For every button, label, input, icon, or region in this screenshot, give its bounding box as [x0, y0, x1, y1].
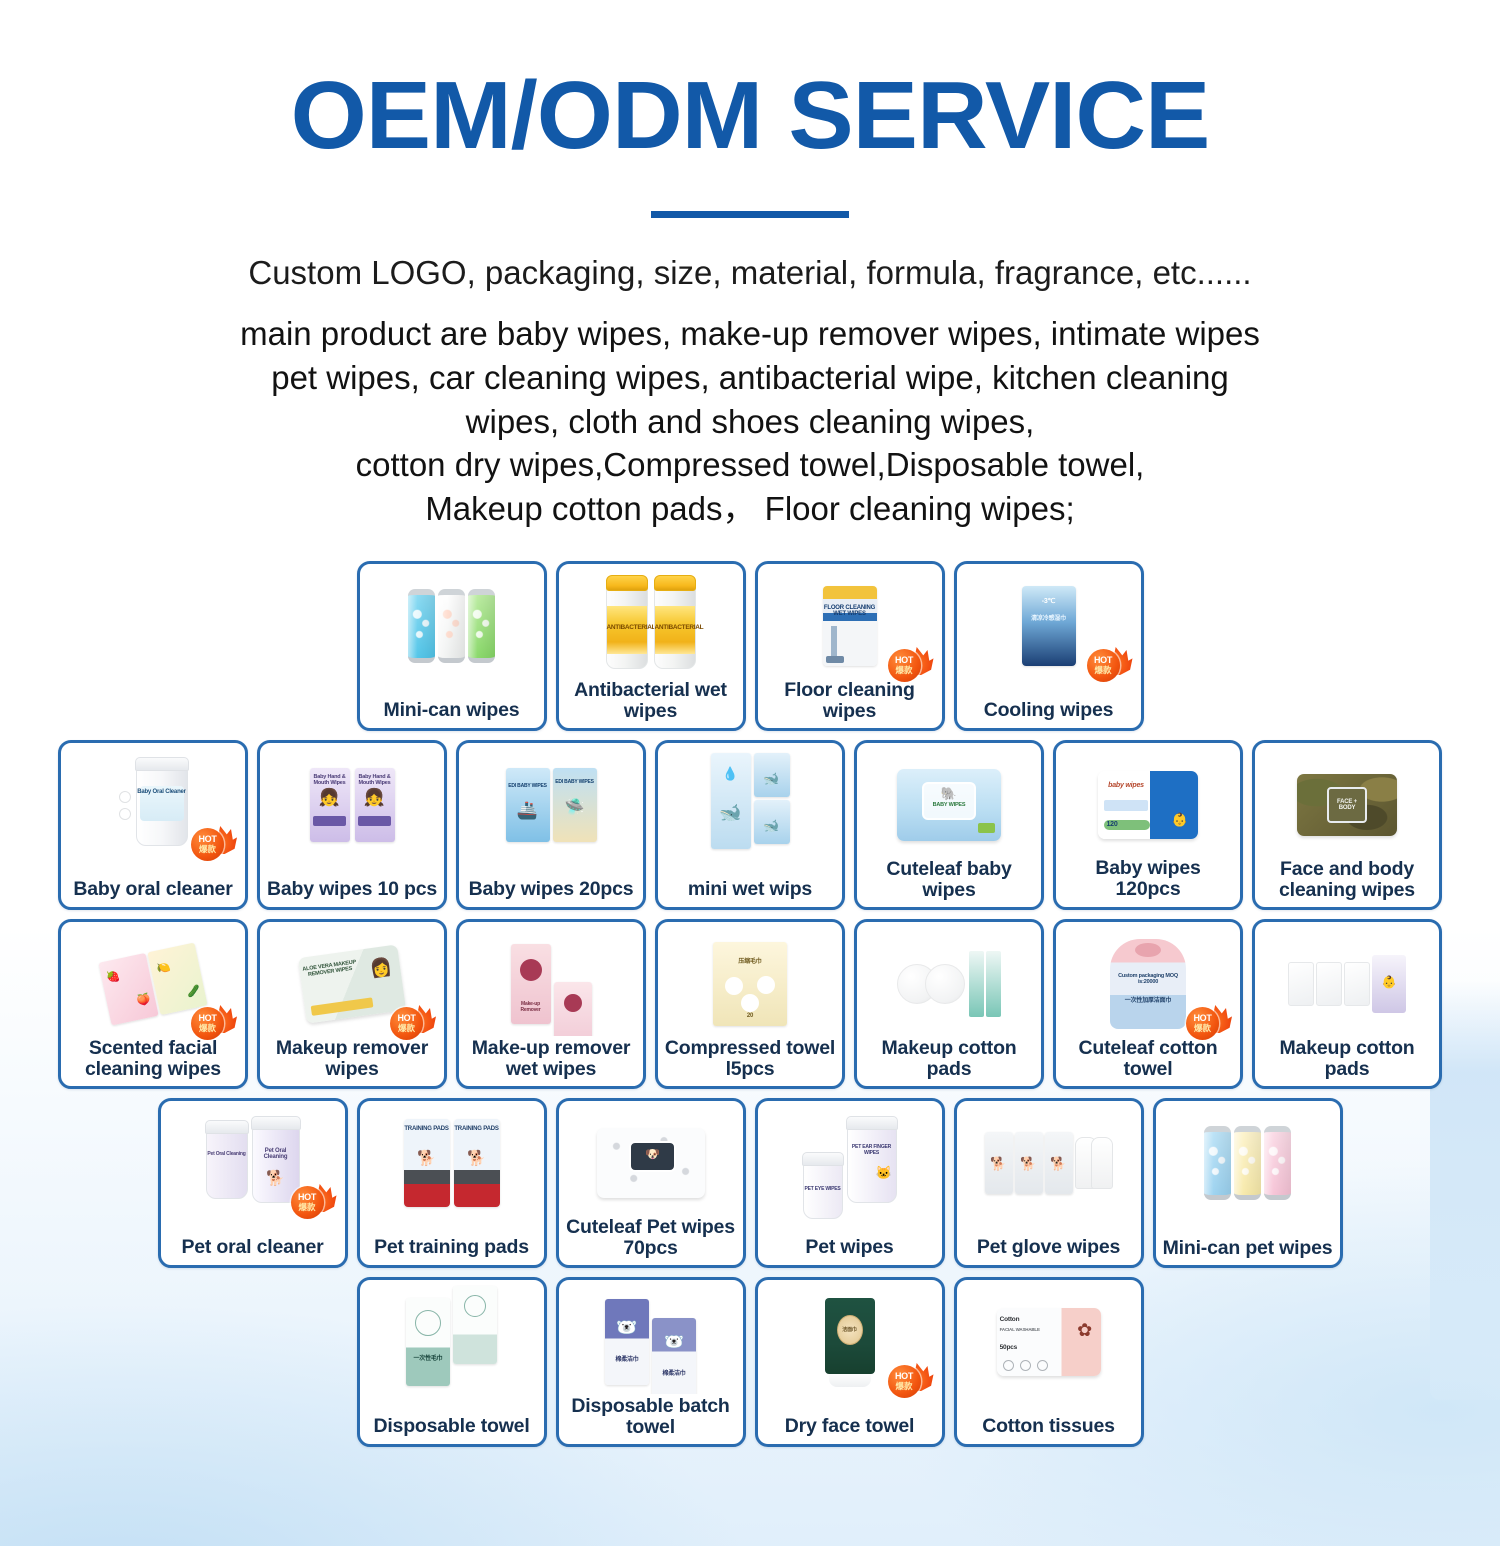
page-title: OEM/ODM SERVICE — [0, 66, 1500, 167]
product-card-label: Make-up remover wet wipes — [464, 1036, 638, 1079]
product-image: CottonFACIAL WASHABLE50pcs✿ — [963, 1286, 1135, 1398]
product-image: TRAINING PADS🐕TRAINING PADS🐕 — [366, 1107, 538, 1219]
hot-badge-text-cn: 爆款 — [199, 845, 216, 854]
product-card[interactable]: -3℃清凉冷感湿巾HOT爆款Cooling wipes — [954, 561, 1144, 731]
oem-odm-service-page: OEM/ODM SERVICE Custom LOGO, packaging, … — [0, 0, 1500, 1546]
product-image: 👶 — [1261, 928, 1433, 1040]
product-image: 🐻‍❄️棉柔洁巾🐻‍❄️棉柔洁巾 — [565, 1286, 737, 1398]
product-card-label: Cuteleaf baby wipes — [862, 857, 1036, 900]
product-card[interactable]: EDI BABY WIPES🚢EDI BABY WIPES🛸Baby wipes… — [456, 740, 646, 910]
product-card-label: Baby wipes 10 pcs — [265, 877, 439, 900]
page-description: main product are baby wipes, make-up rem… — [0, 312, 1500, 531]
product-card-label: Cuteleaf Pet wipes 70pcs — [564, 1215, 738, 1258]
product-card[interactable]: Mini-can pet wipes — [1153, 1098, 1343, 1268]
hot-badge-icon: HOT爆款 — [888, 1360, 934, 1400]
description-line: cotton dry wipes,Compressed towel,Dispos… — [0, 443, 1500, 487]
product-card-label: Antibacterial wet wipes — [564, 678, 738, 721]
hot-badge-text-cn: 爆款 — [398, 1024, 415, 1033]
product-card-label: Floor cleaning wipes — [763, 678, 937, 721]
hot-badge-text-cn: 爆款 — [1194, 1024, 1211, 1033]
product-card-label: Pet training pads — [365, 1235, 539, 1258]
product-card-label: Makeup cotton pads — [1260, 1036, 1434, 1079]
product-card-label: mini wet wips — [663, 877, 837, 900]
product-card-label: Baby wipes 120pcs — [1061, 856, 1235, 900]
product-card[interactable]: Make-up RemoverMake-up remover wet wipes — [456, 919, 646, 1089]
hot-badge-text: HOT — [1094, 656, 1112, 665]
product-image: ANTIBACTERIALANTIBACTERIAL — [565, 570, 737, 682]
product-card[interactable]: 🍓🍑🍋🥒HOT爆款Scented facial cleaning wipes — [58, 919, 248, 1089]
product-card-label: Disposable batch towel — [564, 1394, 738, 1437]
hot-badge-text: HOT — [1193, 1014, 1211, 1023]
product-card[interactable]: CottonFACIAL WASHABLE50pcs✿Cotton tissue… — [954, 1277, 1144, 1447]
product-card[interactable]: FLOOR CLEANING WET WIPESHOT爆款Floor clean… — [755, 561, 945, 731]
product-card[interactable]: PET EYE WIPESPET EAR FINGER WIPES🐱Pet wi… — [755, 1098, 945, 1268]
product-card-label: Cooling wipes — [962, 698, 1136, 721]
product-row: Pet Oral CleaningPet Oral Cleaning🐕HOT爆款… — [0, 1098, 1500, 1268]
product-card-label: Mini-can wipes — [365, 698, 539, 721]
product-card-label: Makeup cotton pads — [862, 1036, 1036, 1079]
product-card[interactable]: Baby Hand & Mouth Wipes👧Baby Hand & Mout… — [257, 740, 447, 910]
product-card-label: Pet wipes — [763, 1235, 937, 1258]
product-card[interactable]: baby wipes120👶Baby wipes 120pcs — [1053, 740, 1243, 910]
product-image — [366, 570, 538, 682]
product-image: Baby Hand & Mouth Wipes👧Baby Hand & Mout… — [266, 749, 438, 861]
product-card[interactable]: BABY WIPES🐘Cuteleaf baby wipes — [854, 740, 1044, 910]
hot-badge-text-cn: 爆款 — [298, 1203, 315, 1212]
hot-badge-text-cn: 爆款 — [199, 1024, 216, 1033]
hot-badge-text: HOT — [895, 656, 913, 665]
product-card[interactable]: Mini-can wipes — [357, 561, 547, 731]
product-card[interactable]: 🐻‍❄️棉柔洁巾🐻‍❄️棉柔洁巾Disposable batch towel — [556, 1277, 746, 1447]
hot-badge-icon: HOT爆款 — [191, 1002, 237, 1042]
product-card-label: Disposable towel — [365, 1414, 539, 1437]
product-card[interactable]: 👶Makeup cotton pads — [1252, 919, 1442, 1089]
product-card[interactable]: Makeup cotton pads — [854, 919, 1044, 1089]
product-grid: Mini-can wipesANTIBACTERIALANTIBACTERIAL… — [0, 561, 1500, 1447]
product-image: 🐕🐕🐕 — [963, 1107, 1135, 1219]
product-card[interactable]: 一次性毛巾Disposable towel — [357, 1277, 547, 1447]
product-card[interactable]: 🐶Cuteleaf Pet wipes 70pcs — [556, 1098, 746, 1268]
product-card[interactable]: Pet Oral CleaningPet Oral Cleaning🐕HOT爆款… — [158, 1098, 348, 1268]
product-card[interactable]: ALOE VERA MAKEUP REMOVER WIPES👩HOT爆款Make… — [257, 919, 447, 1089]
product-card-label: Dry face towel — [763, 1414, 937, 1437]
title-underline-rule — [651, 211, 849, 218]
product-row: 🍓🍑🍋🥒HOT爆款Scented facial cleaning wipesAL… — [0, 919, 1500, 1089]
product-card[interactable]: ANTIBACTERIALANTIBACTERIALAntibacterial … — [556, 561, 746, 731]
product-image: PET EYE WIPESPET EAR FINGER WIPES🐱 — [764, 1107, 936, 1219]
product-image: 压缩毛巾20 — [664, 928, 836, 1040]
product-row: 一次性毛巾Disposable towel🐻‍❄️棉柔洁巾🐻‍❄️棉柔洁巾Dis… — [0, 1277, 1500, 1447]
product-image: BABY WIPES🐘 — [863, 749, 1035, 861]
product-image: 💧🐋🐋🐋 — [664, 749, 836, 861]
product-image — [1162, 1107, 1334, 1219]
hot-badge-text: HOT — [198, 835, 216, 844]
product-card-label: Compressed towel l5pcs — [663, 1036, 837, 1079]
hot-badge-icon: HOT爆款 — [291, 1181, 337, 1221]
hot-badge-text: HOT — [298, 1193, 316, 1202]
product-row: Mini-can wipesANTIBACTERIALANTIBACTERIAL… — [0, 561, 1500, 731]
product-card[interactable]: Custom packaging MOQ is:20000一次性加厚洁面巾HOT… — [1053, 919, 1243, 1089]
description-line: pet wipes, car cleaning wipes, antibacte… — [0, 356, 1500, 400]
hot-badge-text: HOT — [198, 1014, 216, 1023]
hot-badge-text-cn: 爆款 — [895, 1382, 912, 1391]
description-line: main product are baby wipes, make-up rem… — [0, 312, 1500, 356]
hot-badge-icon: HOT爆款 — [191, 823, 237, 863]
product-card-label: Baby oral cleaner — [66, 877, 240, 900]
product-card-label: Pet glove wipes — [962, 1235, 1136, 1258]
product-image: 一次性毛巾 — [366, 1286, 538, 1398]
hot-badge-icon: HOT爆款 — [1087, 644, 1133, 684]
product-card-label: Cuteleaf cotton towel — [1061, 1036, 1235, 1079]
hot-badge-text: HOT — [397, 1014, 415, 1023]
hot-badge-text-cn: 爆款 — [895, 666, 912, 675]
hot-badge-icon: HOT爆款 — [390, 1002, 436, 1042]
hot-badge-text-cn: 爆款 — [1094, 666, 1111, 675]
product-card[interactable]: 洁面巾HOT爆款Dry face towel — [755, 1277, 945, 1447]
product-image: baby wipes120👶 — [1062, 749, 1234, 861]
product-card-label: Scented facial cleaning wipes — [66, 1036, 240, 1079]
hot-badge-text: HOT — [895, 1372, 913, 1381]
product-card-label: Face and body cleaning wipes — [1260, 857, 1434, 900]
hot-badge-icon: HOT爆款 — [888, 644, 934, 684]
page-subtitle: Custom LOGO, packaging, size, material, … — [0, 254, 1500, 292]
product-row: Baby Oral CleanerHOT爆款Baby oral cleanerB… — [0, 740, 1500, 910]
product-card-label: Makeup remover wipes — [265, 1036, 439, 1079]
description-line: Makeup cotton pads， Floor cleaning wipes… — [0, 487, 1500, 531]
product-card-label: Cotton tissues — [962, 1414, 1136, 1437]
product-image: Make-up Remover — [465, 928, 637, 1040]
product-card-label: Mini-can pet wipes — [1161, 1236, 1335, 1258]
product-card[interactable]: Baby Oral CleanerHOT爆款Baby oral cleaner — [58, 740, 248, 910]
product-image: FACE + BODY — [1261, 749, 1433, 861]
product-card[interactable]: FACE + BODYFace and body cleaning wipes — [1252, 740, 1442, 910]
hot-badge-icon: HOT爆款 — [1186, 1002, 1232, 1042]
product-card[interactable]: TRAINING PADS🐕TRAINING PADS🐕Pet training… — [357, 1098, 547, 1268]
product-card-label: Baby wipes 20pcs — [464, 877, 638, 900]
description-line: wipes, cloth and shoes cleaning wipes, — [0, 400, 1500, 444]
product-card[interactable]: 压缩毛巾20Compressed towel l5pcs — [655, 919, 845, 1089]
product-image: EDI BABY WIPES🚢EDI BABY WIPES🛸 — [465, 749, 637, 861]
product-card[interactable]: 💧🐋🐋🐋mini wet wips — [655, 740, 845, 910]
product-image — [863, 928, 1035, 1040]
page-header: OEM/ODM SERVICE Custom LOGO, packaging, … — [0, 0, 1500, 531]
product-image: 🐶 — [565, 1107, 737, 1219]
product-card[interactable]: 🐕🐕🐕Pet glove wipes — [954, 1098, 1144, 1268]
product-card-label: Pet oral cleaner — [166, 1235, 340, 1258]
